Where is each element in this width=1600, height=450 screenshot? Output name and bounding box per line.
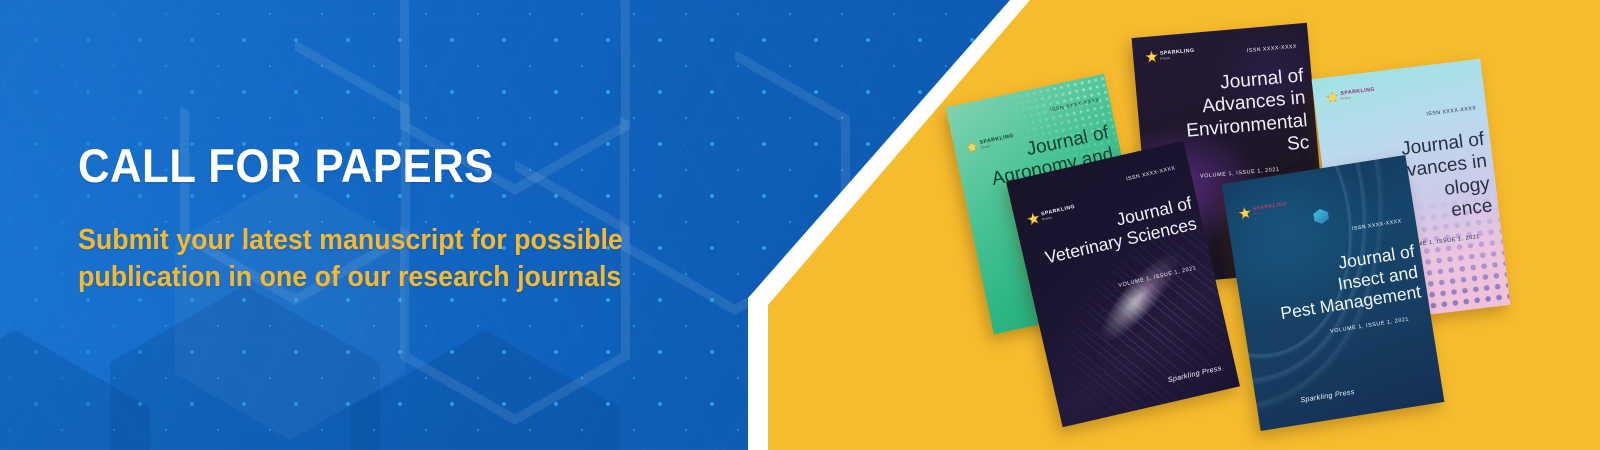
- sparkling-press-logo: SPARKLING Press: [1145, 47, 1196, 64]
- brand-text: SPARKLING Press: [1340, 88, 1375, 101]
- brand-text: SPARKLING Press: [1160, 49, 1195, 60]
- journal-cover-insect[interactable]: SPARKLING Press ISSN XXXX-XXXX Journal o…: [1222, 155, 1445, 431]
- brand-text: SPARKLING Press: [1041, 205, 1077, 221]
- banner-copy: CALL FOR PAPERS Submit your latest manus…: [78, 142, 718, 296]
- call-for-papers-banner: CALL FOR PAPERS Submit your latest manus…: [0, 0, 1600, 450]
- banner-subtitle: Submit your latest manuscript for possib…: [78, 222, 680, 296]
- issn-label: ISSN XXXX-XXXX: [1247, 44, 1298, 54]
- issn-label: ISSN XXXX-XXXX: [1426, 105, 1477, 117]
- page-title: CALL FOR PAPERS: [78, 142, 673, 191]
- star-icon: [1238, 206, 1253, 221]
- star-icon: [1026, 211, 1042, 227]
- sparkling-press-logo: SPARKLING Press: [1325, 86, 1376, 105]
- star-icon: [1145, 50, 1159, 64]
- star-icon: [1325, 90, 1339, 104]
